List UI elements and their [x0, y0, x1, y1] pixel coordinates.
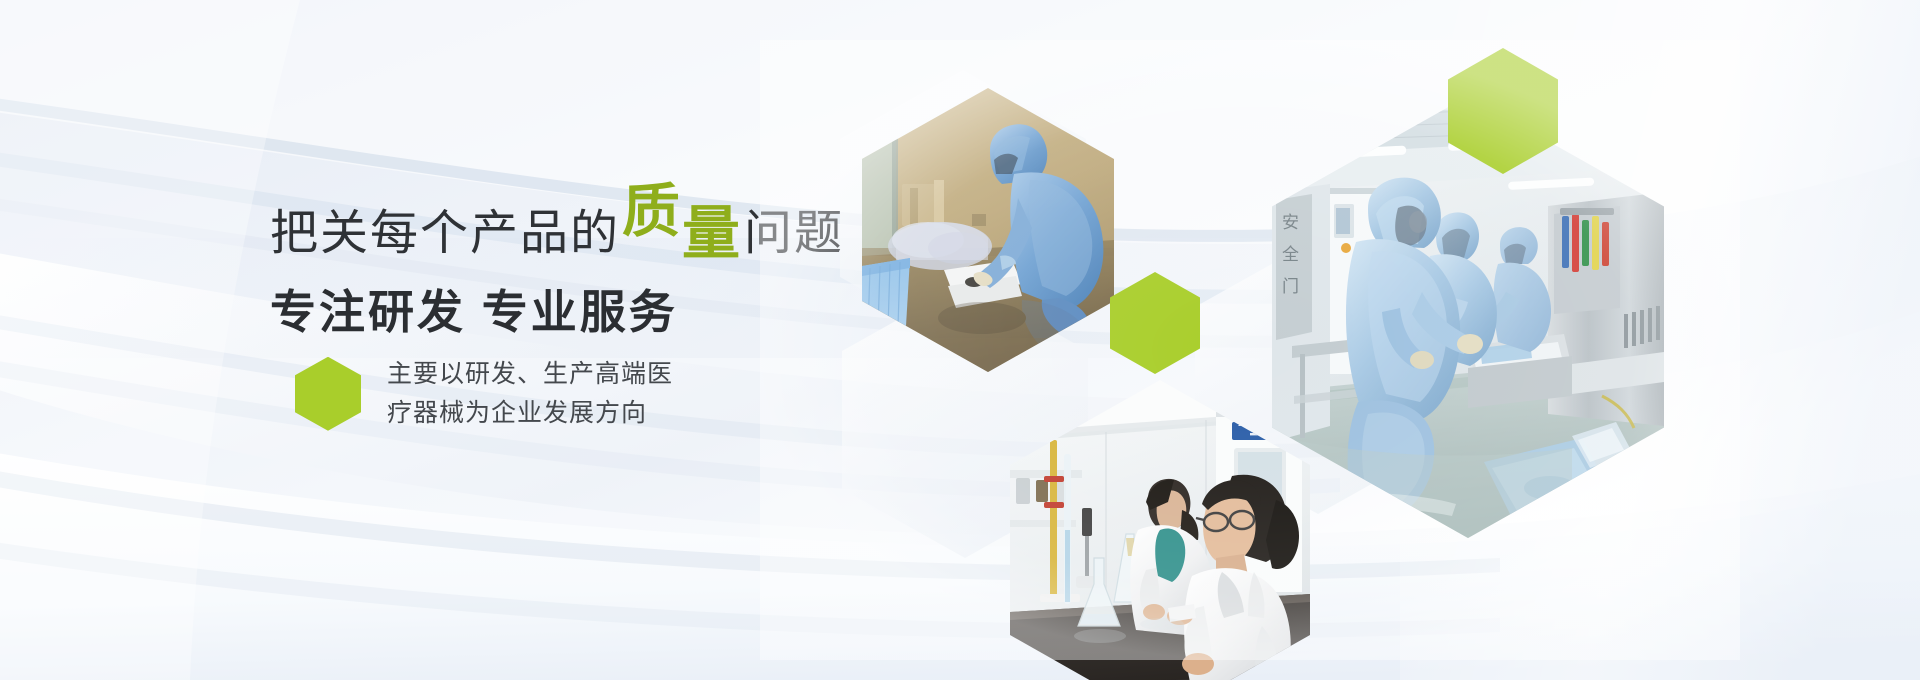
- svg-text:全: 全: [1282, 245, 1299, 265]
- subtitle-line-2: 疗器械为企业发展方向: [387, 394, 673, 433]
- svg-text:安: 安: [1282, 213, 1299, 233]
- headline-line-1: 把关每个产品的 质 量 问题: [270, 180, 910, 258]
- hero-copy: 把关每个产品的 质 量 问题 专注研发 专业服务: [270, 180, 910, 342]
- headline-prefix: 把关每个产品的: [270, 210, 620, 258]
- headline-accent-char-1: 质: [622, 185, 682, 238]
- subtitle-line-1: 主要以研发、生产高端医: [387, 355, 673, 394]
- hero-subcopy: 主要以研发、生产高端医 疗器械为企业发展方向: [295, 355, 673, 433]
- headline-accent-char-2: 量: [682, 207, 742, 260]
- headline-suffix: 问题: [744, 210, 844, 258]
- hexagon-bullet-icon: [295, 357, 361, 431]
- hero-banner: 安 全 门: [0, 0, 1920, 680]
- headline-accent-group: 质 量: [622, 205, 742, 258]
- headline-line-2: 专注研发 专业服务: [270, 276, 910, 342]
- svg-text:门: 门: [1282, 277, 1299, 297]
- subtitle-text: 主要以研发、生产高端医 疗器械为企业发展方向: [387, 355, 673, 433]
